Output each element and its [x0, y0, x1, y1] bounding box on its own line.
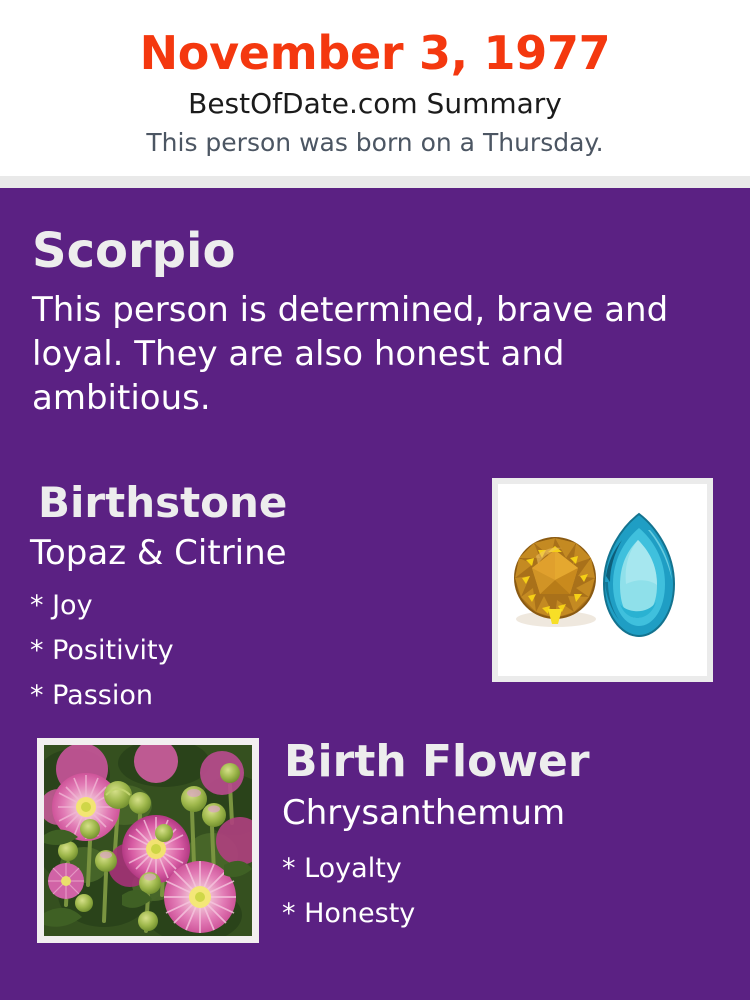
site-summary-label: BestOfDate.com Summary — [0, 87, 750, 121]
details-panel: Scorpio This person is determined, brave… — [0, 188, 750, 1000]
birthstone-trait-list: * Joy * Positivity * Passion — [30, 583, 450, 718]
page-title-date: November 3, 1977 — [0, 24, 750, 82]
day-of-week-text: This person was born on a Thursday. — [0, 127, 750, 159]
birthstone-gems-photo — [498, 484, 707, 676]
list-item: * Joy — [30, 583, 450, 628]
zodiac-sign-title: Scorpio — [32, 222, 235, 280]
birthstone-image-frame — [492, 478, 713, 682]
birthstone-name: Topaz & Citrine — [30, 532, 287, 574]
summary-card: November 3, 1977 BestOfDate.com Summary … — [0, 0, 750, 1000]
birth-flower-image-frame — [37, 738, 259, 943]
birthstone-title: Birthstone — [38, 478, 287, 528]
card-header: November 3, 1977 BestOfDate.com Summary … — [0, 0, 750, 176]
zodiac-description: This person is determined, brave and loy… — [32, 288, 712, 420]
list-item: * Loyalty — [282, 846, 702, 891]
birth-flower-trait-list: * Loyalty * Honesty — [282, 846, 702, 936]
birth-flower-name: Chrysanthemum — [282, 792, 565, 834]
list-item: * Honesty — [282, 891, 702, 936]
list-item: * Passion — [30, 673, 450, 718]
header-divider — [0, 176, 750, 188]
birth-flower-photo — [44, 745, 252, 936]
birth-flower-title: Birth Flower — [284, 736, 590, 788]
list-item: * Positivity — [30, 628, 450, 673]
